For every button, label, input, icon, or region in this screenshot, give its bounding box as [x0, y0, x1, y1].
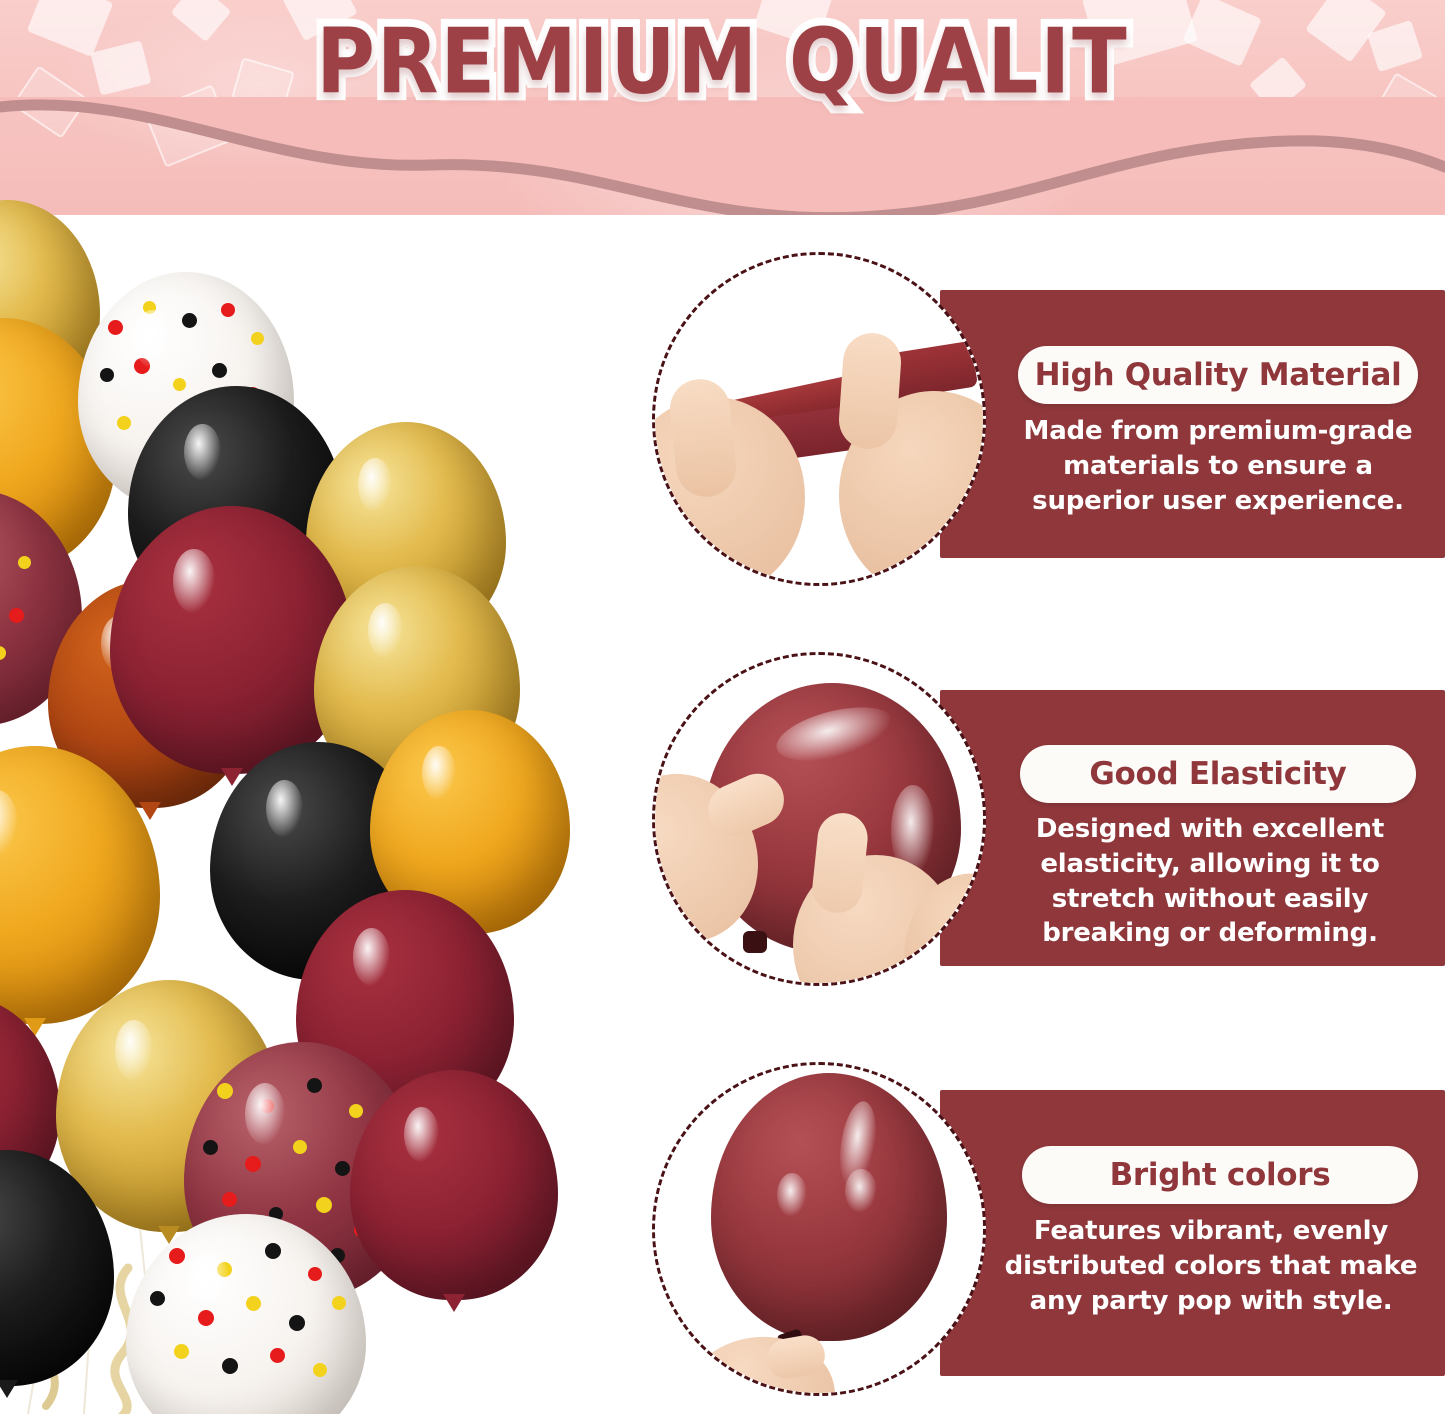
- feature-image-1: [652, 252, 986, 586]
- balloon-highlight: [777, 1173, 807, 1217]
- feature-title-pill-2: Good Elasticity: [1020, 745, 1416, 803]
- held-balloon-shape: [711, 1073, 947, 1341]
- balloon-burgundy: [350, 1070, 558, 1300]
- balloon-highlight: [845, 1169, 877, 1213]
- feature-description-3: Features vibrant, evenly distributed col…: [988, 1214, 1434, 1318]
- feature-description-2: Designed with excellent elasticity, allo…: [986, 812, 1434, 951]
- feature-image-2: [652, 652, 986, 986]
- feature-title-3: Bright colors: [1110, 1157, 1331, 1193]
- balloon-knot-shape: [743, 931, 767, 953]
- balloon-cluster-image: [0, 190, 570, 1414]
- right-thumb-shape: [837, 331, 903, 451]
- header-banner: PREMIUM QUALIT: [0, 0, 1445, 215]
- feature-title-2: Good Elasticity: [1089, 756, 1346, 792]
- feature-image-3: [652, 1062, 986, 1396]
- feature-title-1: High Quality Material: [1035, 357, 1402, 393]
- infographic-canvas: PREMIUM QUALIT: [0, 0, 1445, 1414]
- page-title: PREMIUM QUALIT: [0, 6, 1445, 116]
- feature-description-1: Made from premium-grade materials to ens…: [1008, 414, 1428, 518]
- feature-title-pill-3: Bright colors: [1022, 1146, 1418, 1204]
- page-title-text: PREMIUM QUALIT: [316, 9, 1128, 113]
- feature-title-pill-1: High Quality Material: [1018, 346, 1418, 404]
